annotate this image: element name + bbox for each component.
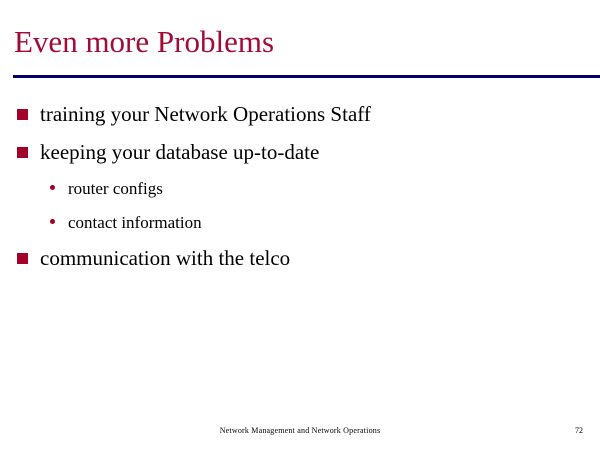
slide-page-number: 72 (575, 425, 583, 436)
list-item: communication with the telco (0, 243, 600, 281)
list-item: keeping your database up-to-date (0, 137, 600, 175)
slide-footer-text: Network Management and Network Operation… (0, 425, 600, 436)
list-item-label: training your Network Operations Staff (40, 99, 371, 130)
list-item-label: communication with the telco (40, 243, 290, 274)
square-bullet-icon (17, 253, 28, 264)
list-item: contact information (0, 209, 600, 243)
slide-body-list: training your Network Operations Staff k… (0, 99, 600, 281)
round-bullet-icon (50, 219, 55, 224)
title-divider-rule (13, 75, 600, 78)
square-bullet-icon (17, 109, 28, 120)
list-item-label: keeping your database up-to-date (40, 137, 319, 168)
list-item: training your Network Operations Staff (0, 99, 600, 137)
list-item-label: router configs (68, 175, 163, 203)
slide-title: Even more Problems (14, 24, 274, 60)
square-bullet-icon (17, 147, 28, 158)
slide-canvas: Even more Problems training your Network… (0, 0, 600, 450)
list-item: router configs (0, 175, 600, 209)
round-bullet-icon (50, 185, 55, 190)
list-item-label: contact information (68, 209, 202, 237)
